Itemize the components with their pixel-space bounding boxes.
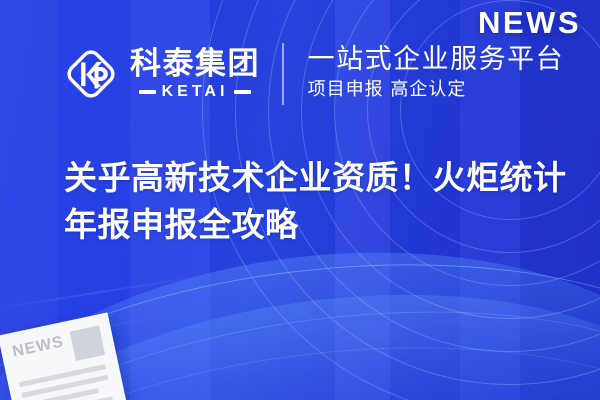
- banner-header: 科泰集团 KETAI 一站式企业服务平台 项目申报 高企认定: [0, 34, 600, 114]
- headline: 关乎高新技术企业资质！火炬统计 年报申报全攻略: [64, 155, 564, 249]
- brand-logo: 科泰集团 KETAI: [62, 45, 260, 103]
- headline-line-2: 年报申报全攻略: [64, 202, 564, 249]
- dash-right-icon: [234, 90, 251, 94]
- newspaper-image-placeholder: [70, 325, 106, 361]
- company-name-en: KETAI: [162, 84, 229, 100]
- headline-line-1: 关乎高新技术企业资质！火炬统计: [64, 155, 564, 202]
- tagline-block: 一站式企业服务平台 项目申报 高企认定: [308, 45, 565, 101]
- company-name-en-row: KETAI: [130, 84, 260, 100]
- tagline-main: 一站式企业服务平台: [308, 45, 565, 75]
- vertical-divider: [282, 43, 284, 105]
- promo-banner: NEWS 科泰集团 KETAI: [0, 0, 600, 400]
- kp-monogram-icon: [62, 45, 120, 103]
- company-name-cn: 科泰集团: [130, 48, 260, 79]
- dash-left-icon: [139, 90, 156, 94]
- tagline-sub: 项目申报 高企认定: [308, 79, 565, 101]
- newspaper-masthead: NEWS: [11, 334, 65, 360]
- brand-logo-text: 科泰集团 KETAI: [130, 48, 260, 100]
